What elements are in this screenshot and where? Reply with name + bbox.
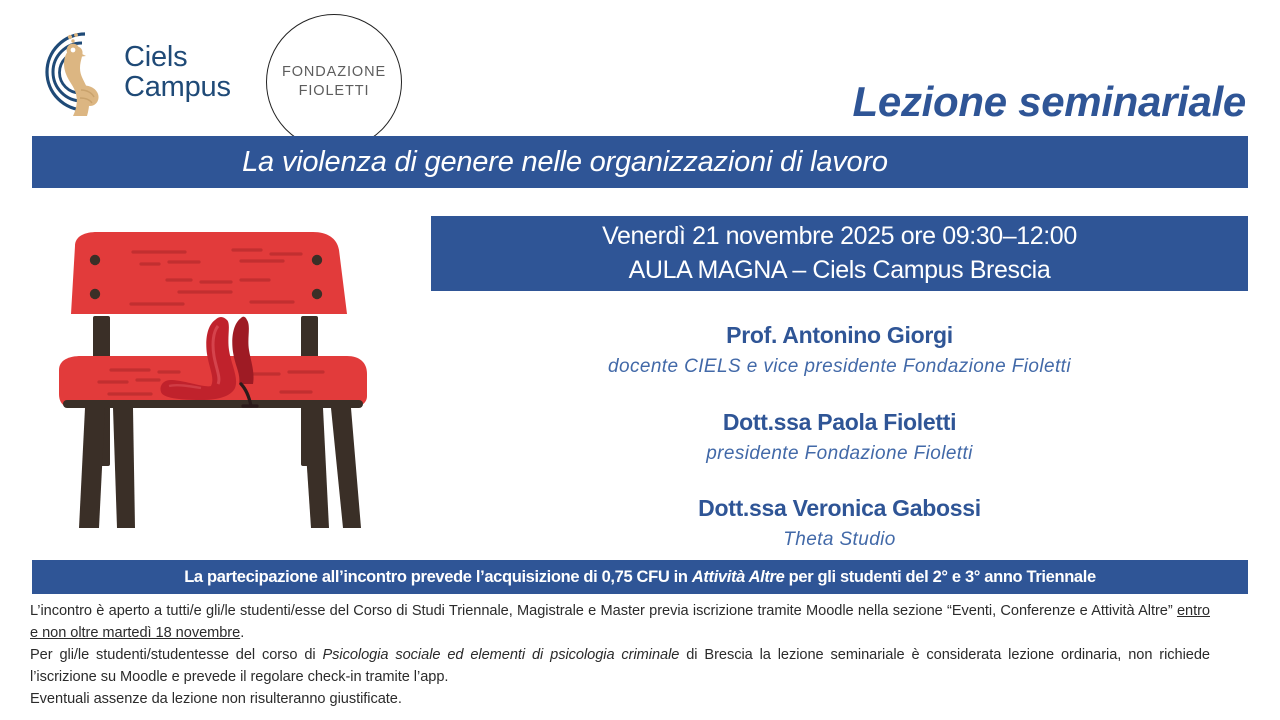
speaker-item: Dott.ssa Paola Fioletti presidente Fonda… [431, 407, 1248, 468]
footer-p1-text-a: L’incontro è aperto a tutti/e gli/le stu… [30, 603, 1177, 619]
seminar-poster: Ciels Campus FONDAZIONE FIOLETTI Lezione… [0, 0, 1280, 720]
fioletti-logo-line1: FONDAZIONE [282, 63, 386, 82]
speakers-list: Prof. Antonino Giorgi docente CIELS e vi… [431, 320, 1248, 554]
speaker-role: Theta Studio [431, 526, 1248, 554]
fioletti-logo-line2: FIOLETTI [299, 82, 370, 101]
ciels-wordmark: Ciels Campus [124, 42, 231, 103]
peacock-icon [40, 26, 114, 118]
speaker-role: presidente Fondazione Fioletti [431, 440, 1248, 468]
footer-p2-text-a: Per gli/le studenti/studentesse del cors… [30, 647, 322, 663]
footer-paragraph-2: Per gli/le studenti/studentesse del cors… [30, 645, 1210, 689]
speaker-role: docente CIELS e vice presidente Fondazio… [431, 353, 1248, 381]
footer-note: L’incontro è aperto a tutti/e gli/le stu… [30, 601, 1210, 710]
cfu-text-part2: per gli studenti del 2° e 3° anno Trienn… [784, 568, 1095, 586]
ciels-campus-logo: Ciels Campus [40, 22, 240, 122]
fondazione-fioletti-logo: FONDAZIONE FIOLETTI [266, 14, 402, 150]
cfu-banner: La partecipazione all’incontro prevede l… [32, 560, 1248, 594]
ciels-wordmark-line2: Campus [124, 72, 231, 102]
ciels-wordmark-line1: Ciels [124, 42, 231, 72]
footer-paragraph-1: L’incontro è aperto a tutti/e gli/le stu… [30, 601, 1210, 645]
footer-paragraph-3: Eventuali assenze da lezione non risulte… [30, 689, 1210, 711]
footer-p1-text-b: . [240, 625, 244, 641]
event-datetime-box: Venerdì 21 novembre 2025 ore 09:30–12:00… [431, 216, 1248, 291]
speaker-item: Prof. Antonino Giorgi docente CIELS e vi… [431, 320, 1248, 381]
cfu-banner-text: La partecipazione all’incontro prevede l… [184, 568, 1096, 587]
subtitle-text: La violenza di genere nelle organizzazio… [242, 146, 1038, 179]
subtitle-banner: La violenza di genere nelle organizzazio… [32, 136, 1248, 188]
speaker-name: Dott.ssa Paola Fioletti [431, 407, 1248, 438]
speaker-name: Prof. Antonino Giorgi [431, 320, 1248, 351]
speaker-name: Dott.ssa Veronica Gabossi [431, 493, 1248, 524]
footer-p2-course-name: Psicologia sociale ed elementi di psicol… [322, 647, 679, 663]
speaker-item: Dott.ssa Veronica Gabossi Theta Studio [431, 493, 1248, 554]
cfu-text-part1: La partecipazione all’incontro prevede l… [184, 568, 692, 586]
page-title: Lezione seminariale [853, 78, 1246, 126]
event-venue-line: AULA MAGNA – Ciels Campus Brescia [629, 254, 1051, 288]
event-date-line: Venerdì 21 novembre 2025 ore 09:30–12:00 [602, 220, 1077, 254]
red-bench-illustration [55, 228, 405, 540]
cfu-text-italic: Attività Altre [692, 568, 785, 586]
